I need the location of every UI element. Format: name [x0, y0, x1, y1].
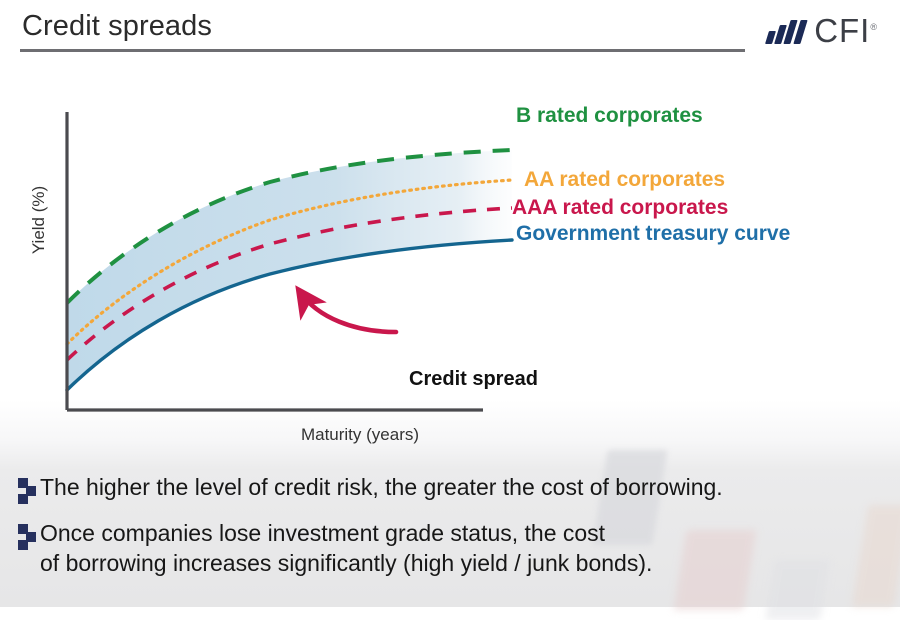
logo-wordmark-text: CFI [814, 12, 870, 49]
bullet-text: Once companies lose investment grade sta… [40, 518, 652, 579]
series-label-government-treasury-curve: Government treasury curve [516, 222, 790, 246]
square-cluster-bullet-icon [18, 478, 40, 504]
series-label-aaa-rated-corporates: AAA rated corporates [512, 196, 728, 220]
credit-spread-arrow-icon [300, 292, 396, 332]
bullet-list: The higher the level of credit risk, the… [18, 472, 898, 593]
logo-wordmark: CFI® [814, 14, 878, 47]
bullet-line: of borrowing increases significantly (hi… [40, 548, 652, 578]
chart-plot-svg [0, 60, 900, 460]
slide-canvas: Credit spreads CFI® [0, 0, 900, 607]
x-axis-label: Maturity (years) [200, 425, 520, 445]
series-label-aa-rated-corporates: AA rated corporates [524, 168, 725, 192]
cfi-logo: CFI® [767, 14, 878, 47]
square-cluster-bullet-icon [18, 524, 40, 550]
series-label-b-rated-corporates: B rated corporates [516, 104, 703, 128]
title-underline-divider [20, 49, 745, 52]
y-axis-label: Yield (%) [29, 165, 49, 275]
cfi-bars-icon [767, 18, 807, 44]
bullet-text: The higher the level of credit risk, the… [40, 472, 723, 502]
registered-trademark-icon: ® [870, 22, 878, 32]
credit-spread-annotation-label: Credit spread [409, 368, 538, 391]
list-item: Once companies lose investment grade sta… [18, 518, 898, 579]
bullet-line: Once companies lose investment grade sta… [40, 520, 605, 546]
bullet-line: The higher the level of credit risk, the… [40, 474, 723, 500]
page-title: Credit spreads [22, 10, 212, 43]
list-item: The higher the level of credit risk, the… [18, 472, 898, 504]
credit-spread-chart: Yield (%) Maturity (years) B rated corpo… [0, 60, 900, 460]
